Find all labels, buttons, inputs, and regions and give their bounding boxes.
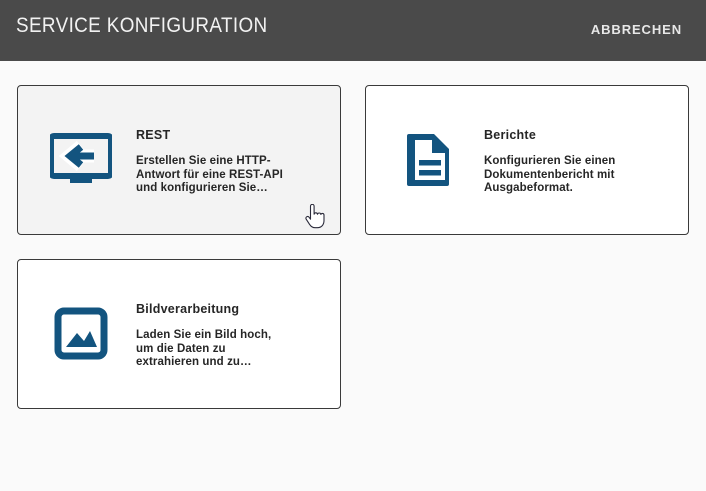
cancel-button[interactable]: ABBRECHEN [585,18,688,41]
rest-response-monitor-icon [50,128,112,190]
image-picture-icon [50,302,112,364]
page-title: SERVICE KONFIGURATION [16,14,268,38]
app-header: SERVICE KONFIGURATION ABBRECHEN [0,0,706,61]
document-report-icon [398,128,460,190]
card-description: Erstellen Sie eine HTTP- Antwort für ein… [136,155,326,196]
card-title: Bildverarbeitung [136,302,326,317]
card-text-block: REST Erstellen Sie eine HTTP- Antwort fü… [136,128,326,196]
card-title: Berichte [484,128,674,143]
card-text-block: Berichte Konfigurieren Sie einen Dokumen… [484,128,674,196]
card-description: Laden Sie ein Bild hoch, um die Daten zu… [136,329,326,370]
service-card-berichte[interactable]: Berichte Konfigurieren Sie einen Dokumen… [365,85,689,235]
service-card-bildverarbeitung[interactable]: Bildverarbeitung Laden Sie ein Bild hoch… [17,259,341,409]
card-title: REST [136,128,326,143]
card-description: Konfigurieren Sie einen Dokumentenberich… [484,155,674,196]
service-card-rest[interactable]: REST Erstellen Sie eine HTTP- Antwort fü… [17,85,341,235]
card-text-block: Bildverarbeitung Laden Sie ein Bild hoch… [136,302,326,370]
